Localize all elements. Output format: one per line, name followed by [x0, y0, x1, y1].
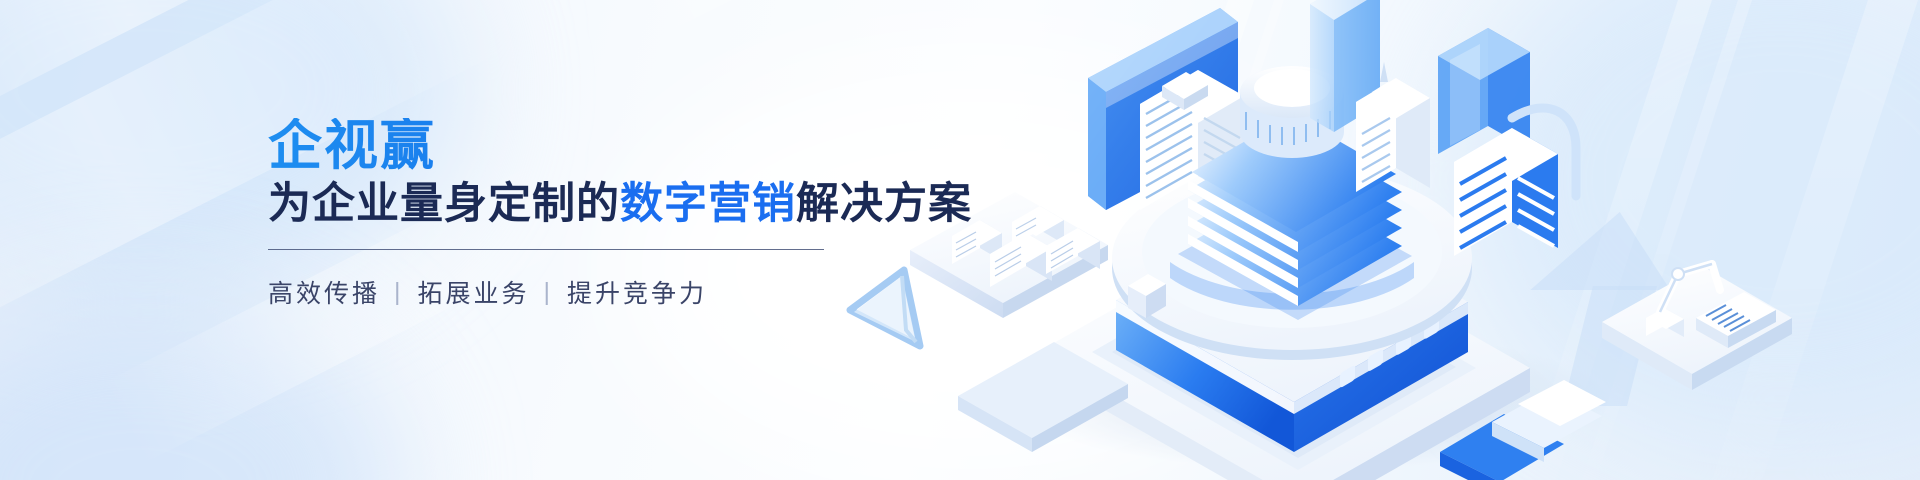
- feature-item-2: 提升竞争力: [567, 274, 707, 310]
- feature-item-1: 拓展业务: [418, 274, 530, 310]
- divider: [268, 249, 824, 250]
- headline-highlight: 数字营销: [620, 180, 796, 228]
- headline-part1: 为企业量身定制的: [268, 180, 620, 228]
- skyscraper-short: [1454, 128, 1558, 256]
- feature-list: 高效传播 | 拓展业务 | 提升竞争力: [268, 274, 888, 310]
- headline-part2: 解决方案: [796, 180, 972, 228]
- robot-arm-plate: [1602, 264, 1792, 390]
- feature-item-0: 高效传播: [268, 274, 380, 310]
- hero-banner: 企视赢 为企业量身定制的数字营销解决方案 高效传播 | 拓展业务 | 提升竞争力: [0, 0, 1920, 480]
- glow-bottom-left: [0, 300, 400, 480]
- feature-separator: |: [544, 278, 554, 307]
- feature-separator: |: [394, 278, 404, 307]
- headline: 为企业量身定制的数字营销解决方案: [268, 180, 888, 228]
- brand-title: 企视赢: [268, 118, 888, 174]
- hero-illustration: [840, 0, 1920, 480]
- banner-content: 企视赢 为企业量身定制的数字营销解决方案 高效传播 | 拓展业务 | 提升竞争力: [268, 118, 888, 310]
